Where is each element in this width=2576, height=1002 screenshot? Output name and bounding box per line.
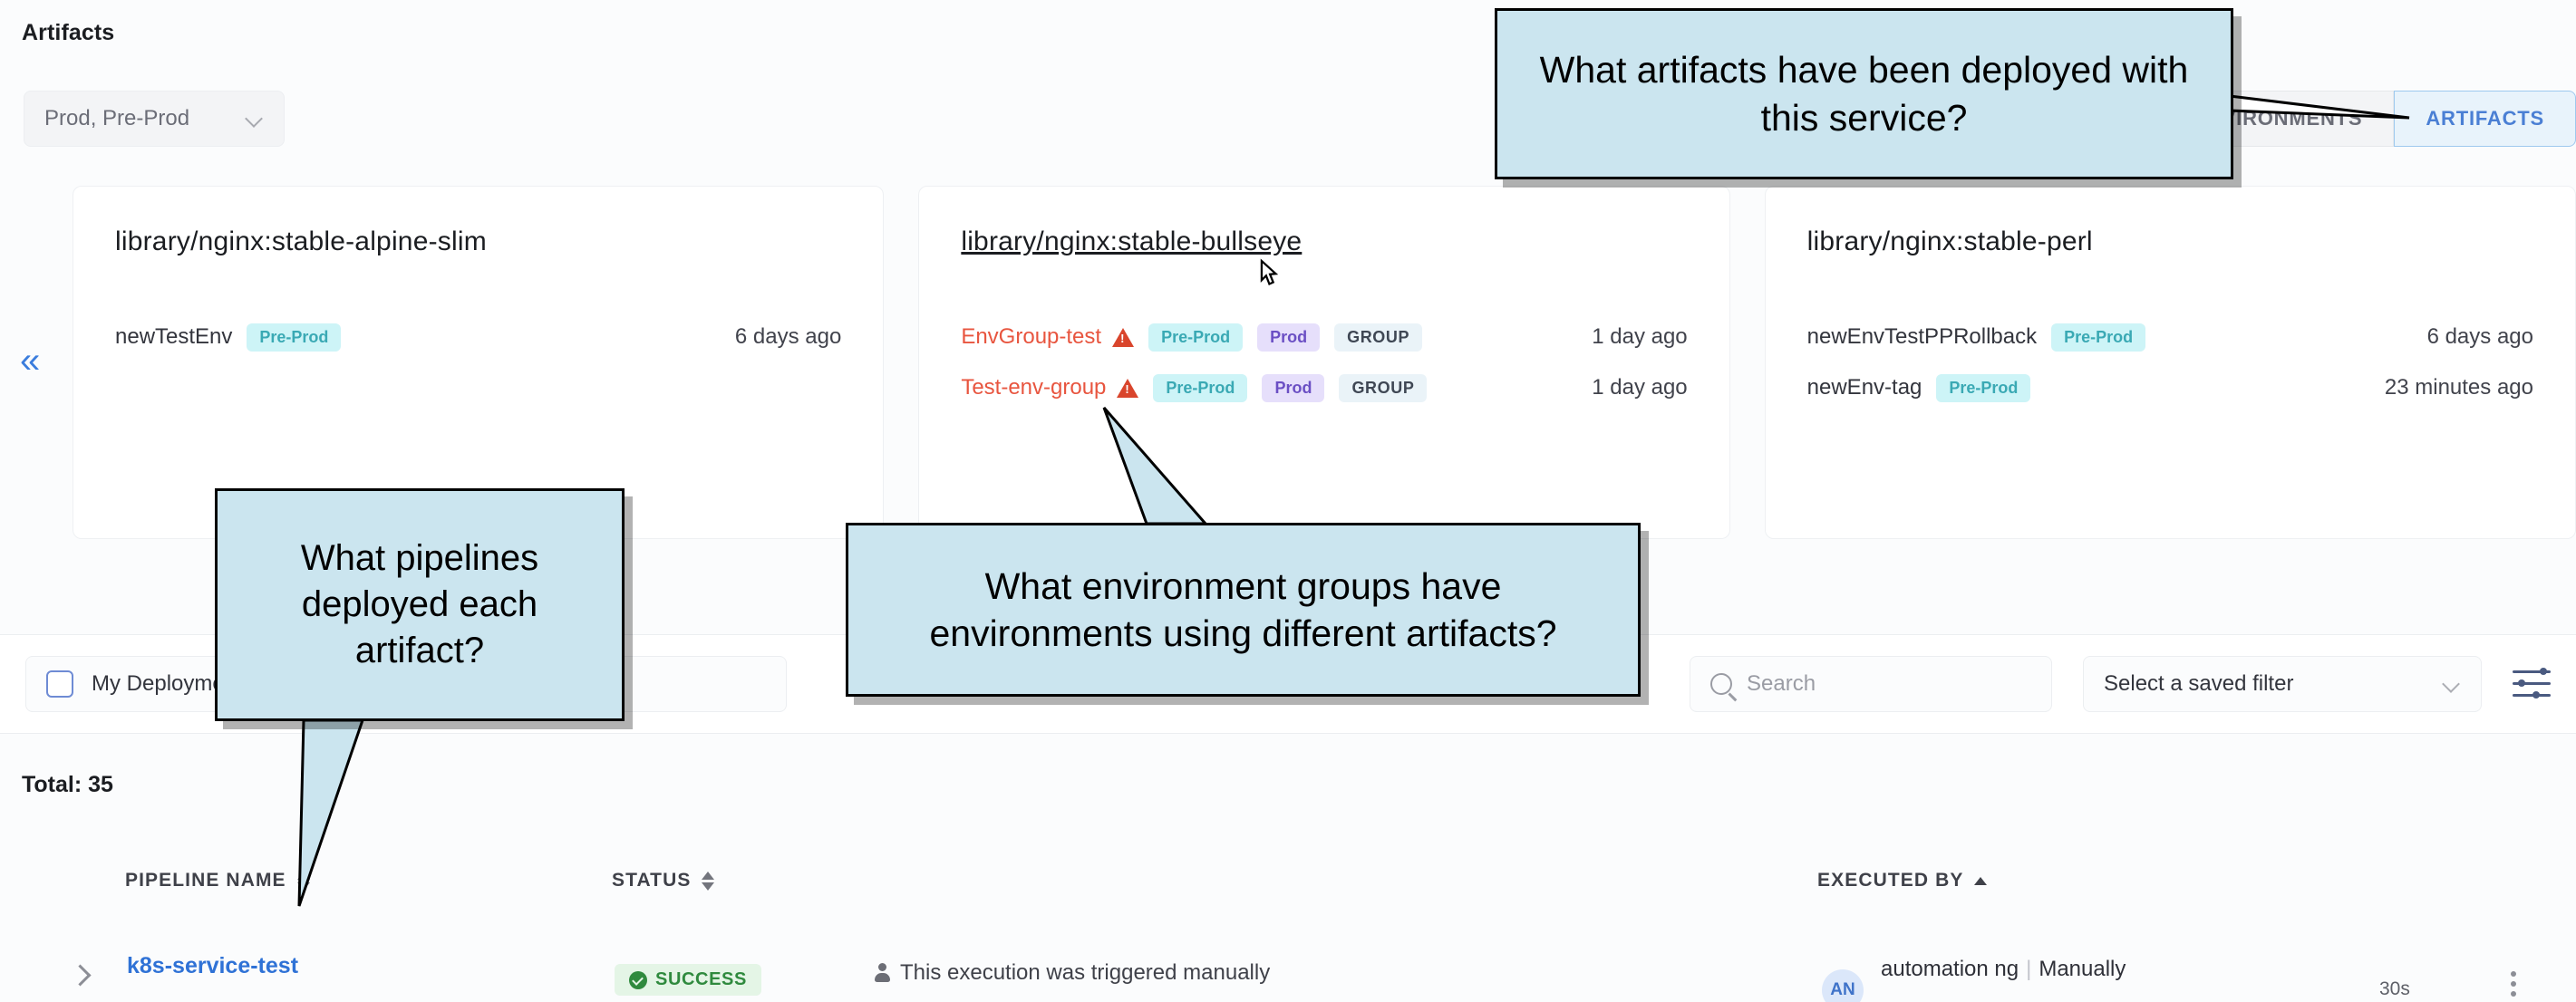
env-type-pill-prod: Prod xyxy=(1262,374,1324,402)
environment-name: newTestEnv xyxy=(115,324,232,350)
column-label: EXECUTED BY xyxy=(1817,870,1963,891)
column-label: STATUS xyxy=(612,870,691,891)
executions-table: Total: 35 PIPELINE NAME STATUS EXECUTED … xyxy=(0,734,2576,1002)
artifact-env-rows: newTestEnv Pre-Prod 6 days ago xyxy=(115,312,841,362)
chevron-down-icon xyxy=(2443,675,2461,693)
artifact-env-row[interactable]: EnvGroup-test Pre-Prod Prod GROUP 1 day … xyxy=(961,312,1687,362)
artifact-env-row[interactable]: newTestEnv Pre-Prod 6 days ago xyxy=(115,312,841,362)
artifact-card[interactable]: library/nginx:stable-alpine-slim newTest… xyxy=(73,186,884,539)
callout-artifacts-question: What artifacts have been deployed with t… xyxy=(1495,8,2233,179)
env-type-pill-pre-prod: Pre-Prod xyxy=(2051,323,2145,352)
env-type-pill-pre-prod: Pre-Prod xyxy=(1148,323,1243,352)
callout-pipelines-question: What pipelines deployed each artifact? xyxy=(215,488,625,721)
tab-artifacts[interactable]: ARTIFACTS xyxy=(2394,91,2576,147)
user-icon xyxy=(875,963,889,983)
environment-group-name: EnvGroup-test xyxy=(961,324,1101,350)
environment-filter-dropdown[interactable]: Prod, Pre-Prod xyxy=(24,91,285,147)
trigger-type: Manually xyxy=(2039,957,2126,981)
filter-sliders-icon[interactable] xyxy=(2513,669,2551,699)
column-header-executed-by[interactable]: EXECUTED BY xyxy=(1817,870,1987,891)
callout-env-groups-question: What environment groups have environment… xyxy=(846,523,1641,697)
artifact-env-row[interactable]: Test-env-group Pre-Prod Prod GROUP 1 day… xyxy=(961,362,1687,413)
search-icon xyxy=(1710,673,1732,695)
total-count: Total: 35 xyxy=(22,772,113,798)
env-type-pill-pre-prod: Pre-Prod xyxy=(1153,374,1247,402)
warning-triangle-icon xyxy=(1112,328,1134,347)
sort-toggle-icon[interactable] xyxy=(297,872,310,891)
chevron-down-icon xyxy=(246,110,264,128)
search-placeholder: Search xyxy=(1747,671,1816,697)
env-type-pill-pre-prod: Pre-Prod xyxy=(1936,374,2030,402)
artifact-title: library/nginx:stable-alpine-slim xyxy=(115,226,487,257)
executed-by-user: automation ng xyxy=(1881,957,2019,981)
deployment-time: 1 day ago xyxy=(1592,324,1687,350)
table-row[interactable]: k8s-service-test SUCCESS This execution … xyxy=(0,951,2576,1002)
column-header-pipeline-name[interactable]: PIPELINE NAME xyxy=(125,870,310,891)
page-root: Artifacts Prod, Pre-Prod ENVIRONMENTS AR… xyxy=(0,0,2576,1002)
status-label: SUCCESS xyxy=(655,969,747,990)
environment-name: newEnv-tag xyxy=(1807,375,1922,400)
sort-ascending-icon[interactable] xyxy=(1974,877,1987,885)
environment-name: newEnvTestPPRollback xyxy=(1807,324,2037,350)
env-type-pill-group: GROUP xyxy=(1334,323,1422,352)
divider: | xyxy=(2026,957,2031,981)
saved-filter-value: Select a saved filter xyxy=(2104,671,2293,697)
artifact-title: library/nginx:stable-perl xyxy=(1807,226,2093,257)
deployment-time: 6 days ago xyxy=(2427,324,2533,350)
collapse-panel-chevron-left-icon[interactable]: « xyxy=(20,342,34,379)
deployment-time: 23 minutes ago xyxy=(2385,375,2533,400)
env-type-pill-prod: Prod xyxy=(1257,323,1320,352)
expand-row-chevron-right-icon[interactable] xyxy=(73,968,87,982)
environment-group-name: Test-env-group xyxy=(961,375,1106,400)
search-input[interactable]: Search xyxy=(1690,656,2052,712)
pipeline-name-link[interactable]: k8s-service-test xyxy=(127,953,298,979)
artifact-env-row[interactable]: newEnv-tag Pre-Prod 23 minutes ago xyxy=(1807,362,2533,413)
trigger-text: This execution was triggered manually xyxy=(900,960,1270,986)
row-menu-kebab-icon[interactable] xyxy=(2511,971,2516,997)
saved-filter-select[interactable]: Select a saved filter xyxy=(2083,656,2482,712)
status-badge: SUCCESS xyxy=(615,964,761,996)
execution-duration: 30s xyxy=(2379,978,2410,1000)
my-deployments-checkbox[interactable] xyxy=(46,670,73,698)
executed-by-value: automation ng|Manually xyxy=(1881,957,2126,982)
trigger-description: This execution was triggered manually xyxy=(875,960,1270,986)
artifact-env-row[interactable]: newEnvTestPPRollback Pre-Prod 6 days ago xyxy=(1807,312,2533,362)
sort-toggle-icon[interactable] xyxy=(702,872,714,891)
check-circle-icon xyxy=(629,971,647,989)
page-title: Artifacts xyxy=(22,20,114,46)
artifact-card[interactable]: library/nginx:stable-bullseye EnvGroup-t… xyxy=(918,186,1729,539)
warning-triangle-icon xyxy=(1117,379,1138,398)
table-header-row: PIPELINE NAME STATUS EXECUTED BY xyxy=(0,870,2576,933)
artifact-card-list: library/nginx:stable-alpine-slim newTest… xyxy=(73,186,2576,539)
mouse-cursor-pointer-icon xyxy=(1253,258,1283,294)
artifact-card[interactable]: library/nginx:stable-perl newEnvTestPPRo… xyxy=(1765,186,2576,539)
column-label: PIPELINE NAME xyxy=(125,870,286,891)
avatar: AN xyxy=(1822,969,1864,1002)
environment-filter-value: Prod, Pre-Prod xyxy=(44,106,246,131)
env-type-pill-group: GROUP xyxy=(1339,374,1427,402)
env-type-pill-pre-prod: Pre-Prod xyxy=(247,323,341,352)
deployment-time: 6 days ago xyxy=(735,324,841,350)
artifact-title-link[interactable]: library/nginx:stable-bullseye xyxy=(961,226,1302,257)
artifact-env-rows: EnvGroup-test Pre-Prod Prod GROUP 1 day … xyxy=(961,312,1687,413)
artifact-env-rows: newEnvTestPPRollback Pre-Prod 6 days ago… xyxy=(1807,312,2533,413)
column-header-status[interactable]: STATUS xyxy=(612,870,714,891)
deployment-time: 1 day ago xyxy=(1592,375,1687,400)
